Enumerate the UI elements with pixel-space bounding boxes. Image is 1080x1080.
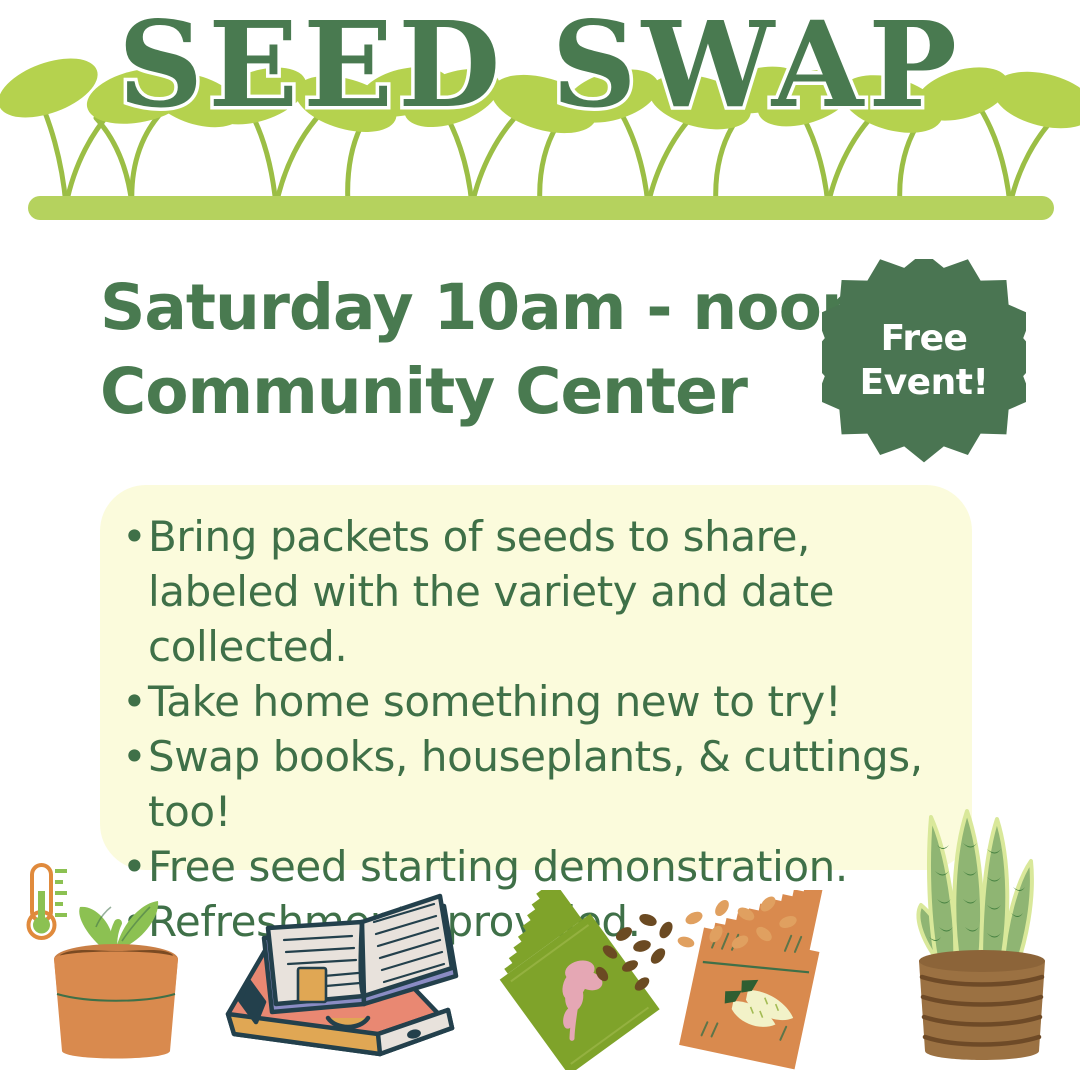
bullet-dot-icon: •: [122, 729, 148, 784]
list-item: • Swap books, houseplants, & cuttings, t…: [122, 729, 962, 839]
books-icon: [212, 882, 474, 1070]
seedling-pot-icon: [18, 855, 218, 1070]
bullet-dot-icon: •: [122, 509, 148, 564]
badge-text-group: Free Event!: [822, 259, 1026, 463]
snake-plant-icon: [885, 805, 1075, 1075]
woven-basket: [919, 950, 1045, 1060]
header-band: SEED SWAP: [0, 0, 1080, 225]
badge-line-free: Free: [881, 318, 968, 360]
free-event-badge: Free Event!: [822, 259, 1026, 463]
thermometer-icon: [29, 865, 68, 938]
ground-bar: [28, 196, 1054, 220]
event-location-line: Community Center: [100, 350, 820, 434]
terracotta-pot: [54, 944, 178, 1059]
list-item: • Bring packets of seeds to share, label…: [122, 509, 962, 674]
list-item-text: Bring packets of seeds to share, labeled…: [148, 509, 962, 674]
event-details: Saturday 10am - noon Community Center: [100, 266, 820, 434]
green-seed-packet: [490, 890, 660, 1070]
details-panel: • Bring packets of seeds to share, label…: [100, 485, 972, 870]
list-item-text: Take home something new to try!: [148, 674, 962, 729]
snake-plant-leaves: [918, 811, 1031, 965]
event-time-line: Saturday 10am - noon: [100, 266, 820, 350]
list-item-text: Swap books, houseplants, & cuttings, too…: [148, 729, 962, 839]
badge-line-event: Event!: [860, 362, 989, 404]
seed-packets-icon: [490, 890, 862, 1070]
list-item: • Take home something new to try!: [122, 674, 962, 729]
seed-swap-poster: SEED SWAP Saturday 10am - noon Community…: [0, 0, 1080, 1080]
page-title: SEED SWAP: [0, 6, 1080, 124]
bullet-dot-icon: •: [122, 674, 148, 729]
